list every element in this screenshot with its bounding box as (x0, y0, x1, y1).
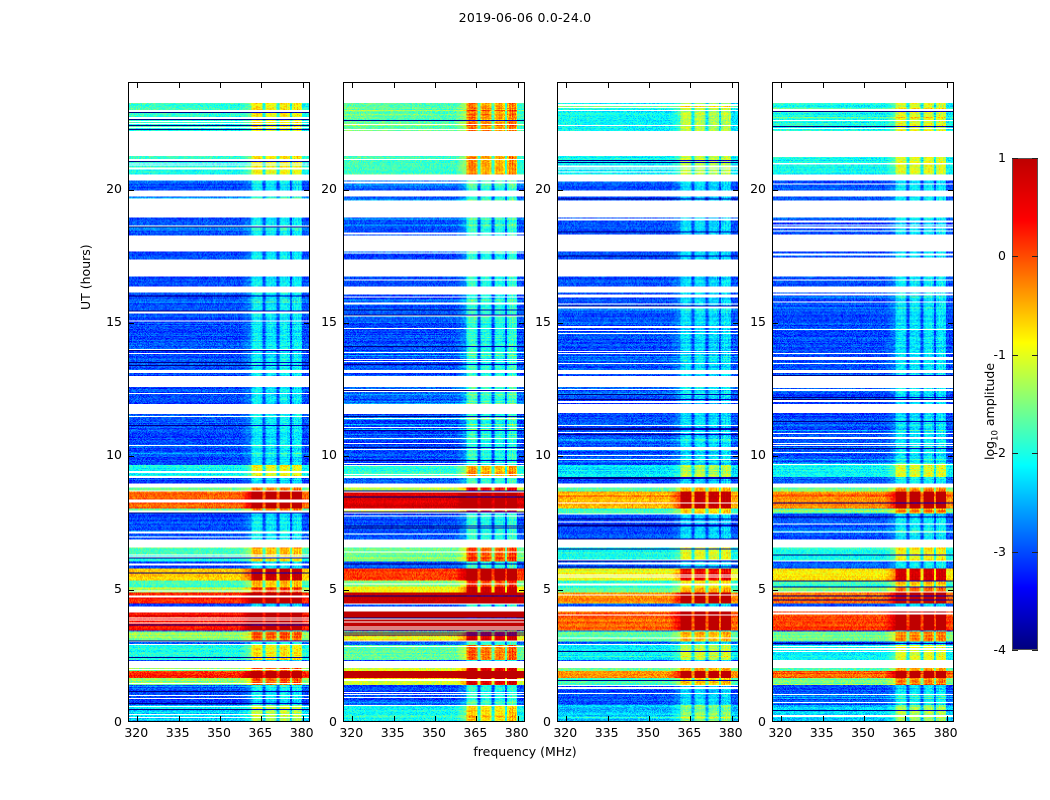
x-axis-tick (823, 83, 824, 88)
x-tick-label: 365 (882, 725, 926, 740)
y-tick-label: 10 (517, 447, 551, 462)
x-axis-tick (476, 83, 477, 88)
x-axis-tick (566, 83, 567, 88)
x-axis-tick (690, 716, 691, 721)
y-axis-tick (948, 456, 953, 457)
y-axis-tick (773, 590, 778, 591)
colorbar-tick (1032, 552, 1038, 553)
x-axis-tick (476, 716, 477, 721)
colorbar-label: log10 amplitude (982, 363, 1001, 460)
x-axis-tick (690, 83, 691, 88)
y-tick-label: 5 (732, 581, 766, 596)
y-axis-tick (558, 323, 563, 324)
x-axis-tick (823, 716, 824, 721)
panel-xy[interactable]: XY, V4*V7=EA05*EA03 (557, 82, 739, 722)
x-axis-tick (179, 716, 180, 721)
x-axis-tick (179, 83, 180, 88)
x-axis-tick (220, 83, 221, 88)
x-axis-tick (947, 716, 948, 721)
colorbar-tick (1032, 453, 1038, 454)
y-axis-tick (344, 590, 349, 591)
x-axis-tick (261, 83, 262, 88)
panel-yy[interactable]: YY, V4*V7=EA05*EA03 (343, 82, 525, 722)
x-axis-tick (566, 716, 567, 721)
x-axis-tick (905, 83, 906, 88)
colorbar-label-subscript: 10 (991, 430, 1001, 441)
x-axis-tick (394, 83, 395, 88)
y-axis-tick (948, 323, 953, 324)
x-axis-tick (781, 83, 782, 88)
colorbar (1012, 158, 1038, 650)
x-axis-tick (864, 716, 865, 721)
colorbar-tick-label: -1 (980, 347, 1006, 362)
x-axis-tick (947, 83, 948, 88)
y-tick-label: 10 (88, 447, 122, 462)
figure-title: 2019-06-06 0.0-24.0 (0, 10, 1050, 25)
colorbar-tick (1012, 355, 1018, 356)
panel-xx[interactable]: XX, V4*V7=EA05*EA03 (128, 82, 310, 722)
x-axis-tick (649, 716, 650, 721)
y-axis-tick (129, 456, 134, 457)
x-axis-tick (608, 716, 609, 721)
y-tick-label: 20 (732, 181, 766, 196)
y-tick-label: 5 (517, 581, 551, 596)
y-tick-label: 20 (517, 181, 551, 196)
x-axis-tick (137, 83, 138, 88)
y-axis-tick (558, 590, 563, 591)
x-axis-tick (261, 716, 262, 721)
x-tick-label: 350 (841, 725, 885, 740)
y-axis-tick (344, 190, 349, 191)
x-tick-label: 350 (412, 725, 456, 740)
y-axis-tick (129, 590, 134, 591)
figure-canvas: 2019-06-06 0.0-24.0 XX, V4*V7=EA05*EA03Y… (0, 0, 1050, 800)
y-axis-tick (773, 190, 778, 191)
y-tick-label: 0 (303, 714, 337, 729)
y-tick-label: 0 (517, 714, 551, 729)
spectrogram-image (129, 83, 309, 721)
y-tick-label: 5 (303, 581, 337, 596)
y-axis-tick (948, 590, 953, 591)
y-axis-tick (129, 323, 134, 324)
x-tick-label: 365 (453, 725, 497, 740)
x-axis-tick (905, 716, 906, 721)
x-axis-tick (608, 83, 609, 88)
colorbar-tick-label: 1 (980, 150, 1006, 165)
x-axis-tick (435, 716, 436, 721)
colorbar-tick (1012, 158, 1018, 159)
y-axis-tick (344, 456, 349, 457)
x-tick-label: 350 (197, 725, 241, 740)
colorbar-tick (1032, 158, 1038, 159)
colorbar-tick (1032, 256, 1038, 257)
y-tick-label: 5 (88, 581, 122, 596)
x-axis-label: frequency (MHz) (0, 744, 1050, 759)
y-tick-label: 15 (88, 314, 122, 329)
y-axis-tick (773, 456, 778, 457)
x-axis-tick (732, 83, 733, 88)
x-axis-tick (137, 716, 138, 721)
y-tick-label: 0 (732, 714, 766, 729)
x-axis-tick (352, 716, 353, 721)
x-tick-label: 335 (371, 725, 415, 740)
colorbar-label-suffix: amplitude (982, 363, 997, 430)
y-tick-label: 15 (517, 314, 551, 329)
x-tick-label: 335 (800, 725, 844, 740)
x-axis-tick (220, 716, 221, 721)
spectrogram-image (344, 83, 524, 721)
x-tick-label: 335 (156, 725, 200, 740)
y-axis-tick (773, 323, 778, 324)
colorbar-tick-label: -4 (980, 642, 1006, 657)
x-axis-tick (649, 83, 650, 88)
colorbar-tick (1032, 355, 1038, 356)
colorbar-tick (1012, 552, 1018, 553)
colorbar-tick (1012, 650, 1018, 651)
x-axis-tick (435, 83, 436, 88)
y-tick-label: 15 (303, 314, 337, 329)
colorbar-label-prefix: log (982, 441, 997, 460)
x-axis-tick (518, 83, 519, 88)
colorbar-tick-label: 0 (980, 248, 1006, 263)
x-tick-label: 365 (667, 725, 711, 740)
y-axis-tick (558, 190, 563, 191)
x-axis-tick (352, 83, 353, 88)
y-tick-label: 0 (88, 714, 122, 729)
x-axis-tick (394, 716, 395, 721)
x-tick-label: 350 (626, 725, 670, 740)
x-axis-tick (303, 83, 304, 88)
y-tick-label: 15 (732, 314, 766, 329)
x-tick-label: 380 (924, 725, 968, 740)
y-tick-label: 20 (88, 181, 122, 196)
y-axis-tick (558, 456, 563, 457)
colorbar-tick (1012, 256, 1018, 257)
x-axis-tick (864, 83, 865, 88)
x-axis-tick (781, 716, 782, 721)
x-tick-label: 335 (585, 725, 629, 740)
spectrogram-image (773, 83, 953, 721)
y-axis-tick (344, 323, 349, 324)
y-tick-label: 20 (303, 181, 337, 196)
y-tick-label: 10 (303, 447, 337, 462)
colorbar-tick-label: -3 (980, 544, 1006, 559)
y-axis-tick (129, 190, 134, 191)
y-axis-tick (948, 190, 953, 191)
panel-yx[interactable]: YX, V4*V7=EA05*EA03 (772, 82, 954, 722)
y-tick-label: 10 (732, 447, 766, 462)
colorbar-tick (1032, 650, 1038, 651)
x-tick-label: 365 (238, 725, 282, 740)
colorbar-tick (1012, 453, 1018, 454)
y-axis-label: UT (hours) (78, 244, 93, 310)
spectrogram-image (558, 83, 738, 721)
